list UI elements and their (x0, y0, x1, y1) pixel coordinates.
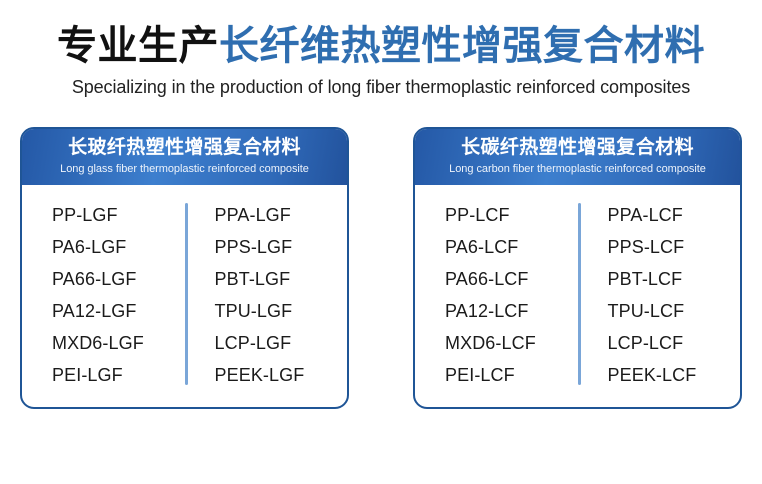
list-item: PA12-LCF (445, 295, 578, 327)
list-item: LCP-LGF (215, 327, 348, 359)
card-header-title-en: Long carbon fiber thermoplastic reinforc… (414, 163, 741, 176)
card-body-carbon-fiber: PP-LCF PA6-LCF PA66-LCF PA12-LCF MXD6-LC… (415, 185, 740, 407)
page-title-dark-part: 专业生产 (57, 24, 219, 68)
list-item: PA6-LGF (52, 231, 185, 263)
list-item: PA6-LCF (445, 231, 578, 263)
list-item: PA66-LGF (52, 263, 185, 295)
list-item: PA66-LCF (445, 263, 578, 295)
list-item: PP-LGF (52, 199, 185, 231)
list-item: PEEK-LCF (608, 359, 741, 391)
list-item: MXD6-LCF (445, 327, 578, 359)
list-item: LCP-LCF (608, 327, 741, 359)
card-header-title-en: Long glass fiber thermoplastic reinforce… (21, 163, 348, 176)
list-item: PP-LCF (445, 199, 578, 231)
list-item: TPU-LCF (608, 295, 741, 327)
card-header-title-cn: 长碳纤热塑性增强复合材料 (414, 136, 741, 160)
card-body-glass-fiber: PP-LGF PA6-LGF PA66-LGF PA12-LGF MXD6-LG… (22, 185, 347, 407)
page-title-blue-part: 长纤维热塑性增强复合材料 (219, 24, 705, 68)
product-list-left: PP-LGF PA6-LGF PA66-LGF PA12-LGF MXD6-LG… (22, 199, 185, 391)
product-card-glass-fiber: 长玻纤热塑性增强复合材料 Long glass fiber thermoplas… (20, 127, 349, 409)
list-item: PPS-LCF (608, 231, 741, 263)
page-subtitle: Specializing in the production of long f… (0, 77, 762, 98)
list-item: PPA-LCF (608, 199, 741, 231)
card-header-carbon-fiber: 长碳纤热塑性增强复合材料 Long carbon fiber thermopla… (414, 128, 741, 185)
list-item: PEI-LGF (52, 359, 185, 391)
page-title: 专业生产长纤维热塑性增强复合材料 (0, 24, 762, 68)
list-item: PPA-LGF (215, 199, 348, 231)
list-item: TPU-LGF (215, 295, 348, 327)
list-item: MXD6-LGF (52, 327, 185, 359)
list-item: PBT-LGF (215, 263, 348, 295)
list-item: PEEK-LGF (215, 359, 348, 391)
product-list-right: PPA-LGF PPS-LGF PBT-LGF TPU-LGF LCP-LGF … (188, 199, 348, 391)
product-list-left: PP-LCF PA6-LCF PA66-LCF PA12-LCF MXD6-LC… (415, 199, 578, 391)
list-item: PBT-LCF (608, 263, 741, 295)
card-header-title-cn: 长玻纤热塑性增强复合材料 (21, 136, 348, 160)
product-card-carbon-fiber: 长碳纤热塑性增强复合材料 Long carbon fiber thermopla… (413, 127, 742, 409)
card-header-glass-fiber: 长玻纤热塑性增强复合材料 Long glass fiber thermoplas… (21, 128, 348, 185)
list-item: PA12-LGF (52, 295, 185, 327)
product-cards-row: 长玻纤热塑性增强复合材料 Long glass fiber thermoplas… (0, 127, 762, 409)
list-item: PEI-LCF (445, 359, 578, 391)
list-item: PPS-LGF (215, 231, 348, 263)
product-list-right: PPA-LCF PPS-LCF PBT-LCF TPU-LCF LCP-LCF … (581, 199, 741, 391)
page-heading: 专业生产长纤维热塑性增强复合材料 Specializing in the pro… (0, 0, 762, 98)
